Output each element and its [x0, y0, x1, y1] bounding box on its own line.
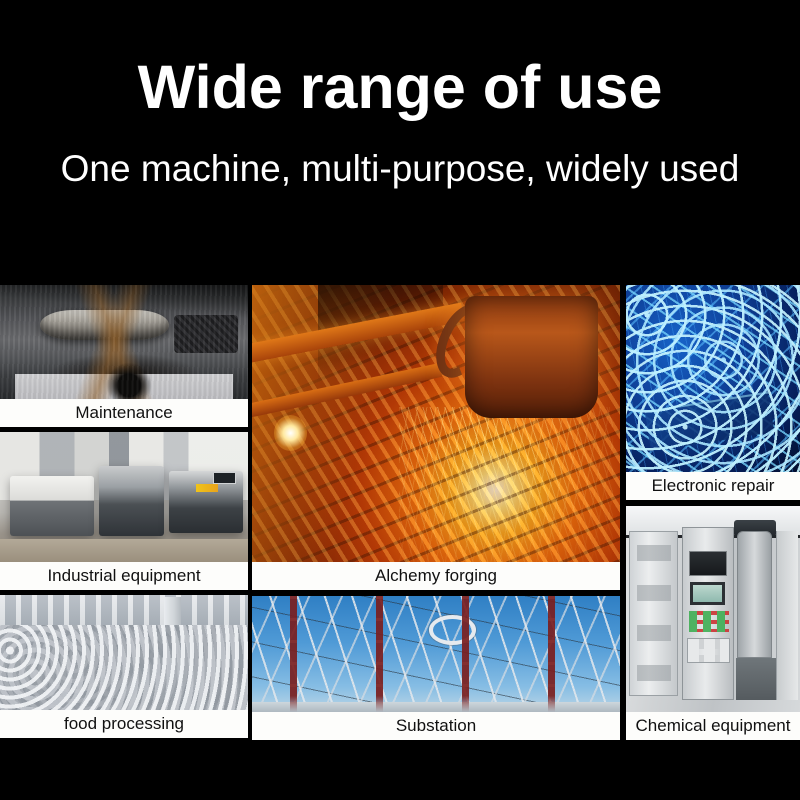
blue-worker-shape	[109, 659, 118, 672]
gallery-grid: Maintenance Industrial equipment food pr…	[0, 285, 800, 740]
machine-left-shape	[10, 476, 94, 536]
control-cabinets-art	[626, 506, 800, 712]
machine-center-shape	[99, 466, 163, 536]
gallery-item-substation[interactable]: Substation	[252, 596, 620, 740]
pillar-shape	[164, 597, 181, 707]
shop-floor-shape	[15, 374, 233, 399]
knob-grid-shape	[687, 638, 731, 663]
blue-worker-shape	[126, 662, 135, 675]
substation-photo	[252, 596, 620, 712]
gallery-label-electronic-repair: Electronic repair	[626, 472, 800, 500]
molten-steel-art	[252, 285, 620, 562]
machine-shop-art	[0, 432, 248, 562]
ground-shape	[252, 702, 620, 712]
chip-footprint-shape	[644, 391, 774, 451]
circuit-board-art	[626, 285, 800, 472]
display-screen-shape	[690, 582, 725, 605]
gallery-label-industrial-equipment: Industrial equipment	[0, 562, 248, 590]
corona-ring-shape	[429, 615, 477, 645]
maintenance-photo	[0, 285, 248, 399]
page-subtitle: One machine, multi-purpose, widely used	[0, 148, 800, 191]
shop-floor-shape	[0, 539, 248, 562]
chamber-base-shape	[736, 658, 778, 699]
machine-monitor-shape	[213, 472, 235, 484]
power-pylons-art	[252, 596, 620, 712]
gallery-label-maintenance: Maintenance	[0, 399, 248, 427]
machine-decal-shape	[196, 484, 218, 492]
gallery-item-maintenance[interactable]: Maintenance	[0, 285, 248, 427]
gallery-item-chemical-equipment[interactable]: Chemical equipment	[626, 506, 800, 740]
gallery-label-chemical-equipment: Chemical equipment	[626, 712, 800, 740]
vacuum-chamber-shape	[737, 531, 772, 659]
indicator-buttons-shape	[689, 611, 729, 632]
gallery-item-industrial-equipment[interactable]: Industrial equipment	[0, 432, 248, 590]
insulator-rings-shape	[252, 596, 620, 712]
food-processing-photo	[0, 595, 248, 710]
page-title: Wide range of use	[0, 55, 800, 121]
chemical-equipment-photo	[626, 506, 800, 712]
sparks-shape	[399, 407, 612, 562]
gallery-item-food-processing[interactable]: food processing	[0, 595, 248, 738]
work-lamp-glow-shape	[274, 415, 307, 451]
banner-header: Wide range of use One machine, multi-pur…	[0, 0, 800, 285]
gallery-label-alchemy-forging: Alchemy forging	[252, 562, 620, 590]
alchemy-forging-photo	[252, 285, 620, 562]
gallery-item-electronic-repair[interactable]: Electronic repair	[626, 285, 800, 500]
industrial-equipment-photo	[0, 432, 248, 562]
cabinet-left-shape	[629, 531, 678, 696]
electronic-repair-photo	[626, 285, 800, 472]
gallery-label-substation: Substation	[252, 712, 620, 740]
car-undercarriage-art	[0, 285, 248, 399]
cabinet-far-right-shape	[776, 531, 799, 700]
underbody-panel-shape	[174, 315, 238, 354]
gallery-label-food-processing: food processing	[0, 710, 248, 738]
gallery-item-alchemy-forging[interactable]: Alchemy forging	[252, 285, 620, 590]
control-panel-shape	[689, 551, 727, 576]
factory-crowd-art	[0, 595, 248, 710]
